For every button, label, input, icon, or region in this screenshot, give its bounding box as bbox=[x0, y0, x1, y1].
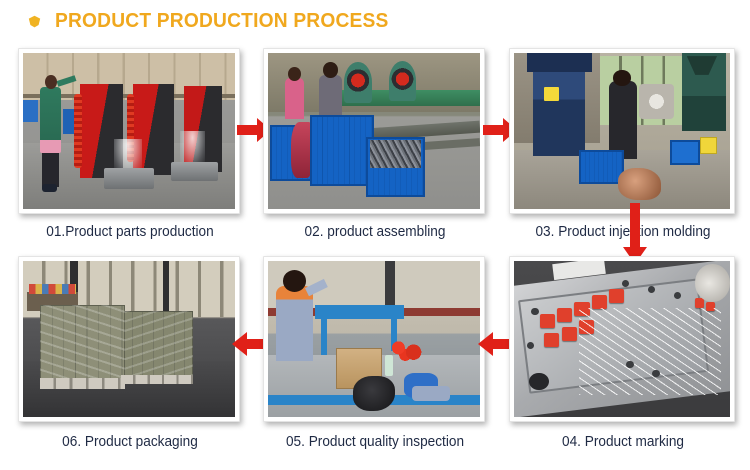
step-04-photo bbox=[514, 261, 730, 417]
step-03-photo-frame bbox=[509, 48, 735, 214]
step-card-05: 05. Product quality inspection bbox=[263, 256, 487, 456]
step-01-photo-frame bbox=[18, 48, 240, 214]
step-04-photo-frame bbox=[509, 256, 735, 422]
diamond-bullet-icon bbox=[28, 15, 41, 28]
step-02-photo bbox=[268, 53, 480, 209]
step-03-photo bbox=[514, 53, 730, 209]
step-05-photo bbox=[268, 261, 480, 417]
step-card-01: 01.Product parts production bbox=[18, 48, 242, 248]
product-production-process-page: PRODUCT PRODUCTION PROCESS 01.Product pa… bbox=[0, 0, 750, 470]
step-05-photo-frame bbox=[263, 256, 485, 422]
step-02-photo-frame bbox=[263, 48, 485, 214]
step-card-06: 06. Product packaging bbox=[18, 256, 242, 456]
step-card-04: 04. Product marking bbox=[509, 256, 737, 456]
step-06-photo-frame bbox=[18, 256, 240, 422]
step-04-caption: 04. Product marking bbox=[516, 434, 730, 450]
step-01-caption: 01.Product parts production bbox=[25, 224, 236, 240]
step-02-caption: 02. product assembling bbox=[270, 224, 481, 240]
page-title: PRODUCT PRODUCTION PROCESS bbox=[55, 10, 389, 33]
page-header: PRODUCT PRODUCTION PROCESS bbox=[0, 0, 750, 42]
step-card-02: 02. product assembling bbox=[263, 48, 487, 248]
step-01-photo bbox=[23, 53, 235, 209]
step-06-photo bbox=[23, 261, 235, 417]
step-05-caption: 05. Product quality inspection bbox=[270, 434, 481, 450]
step-06-caption: 06. Product packaging bbox=[25, 434, 236, 450]
